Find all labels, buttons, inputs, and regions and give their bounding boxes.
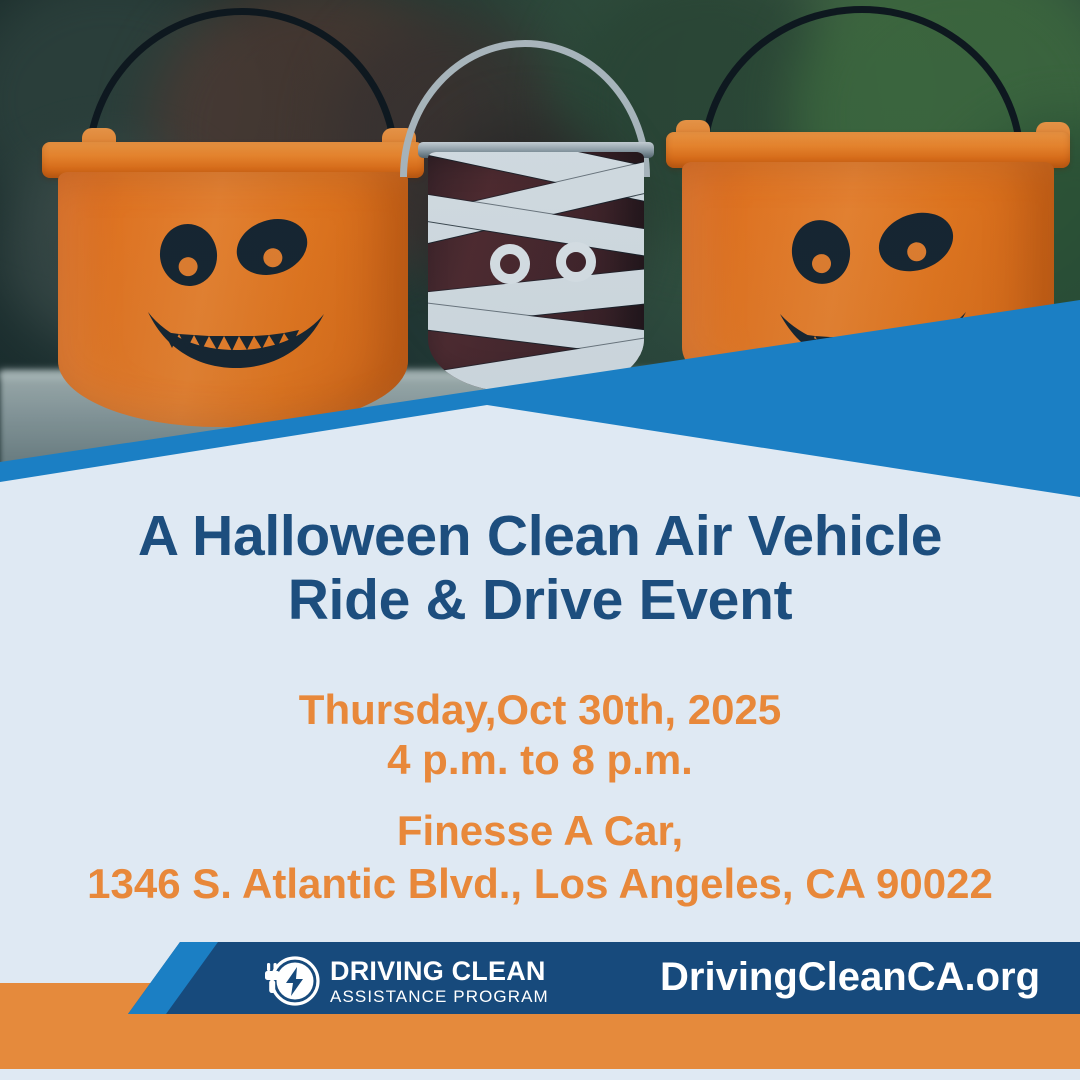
event-venue: Finesse A Car, 1346 S. Atlantic Blvd., L… [0, 805, 1080, 910]
mummy-eye-icon [556, 242, 596, 282]
venue-address: 1346 S. Atlantic Blvd., Los Angeles, CA … [0, 858, 1080, 911]
logo-line-2: ASSISTANCE PROGRAM [330, 988, 549, 1005]
website-url[interactable]: DrivingCleanCA.org [660, 955, 1040, 1000]
event-date-time: Thursday,Oct 30th, 2025 4 p.m. to 8 p.m. [0, 685, 1080, 786]
mummy-eye-icon [490, 244, 530, 284]
logo-wordmark: DRIVING CLEAN ASSISTANCE PROGRAM [330, 958, 549, 1005]
jack-o-lantern-eye-icon [156, 220, 221, 289]
bucket-body-left [58, 172, 408, 427]
event-title-line-2: Ride & Drive Event [0, 569, 1080, 633]
logo-line-1: DRIVING CLEAN [330, 958, 549, 985]
event-date: Thursday,Oct 30th, 2025 [0, 685, 1080, 735]
bottom-light-strip [0, 1069, 1080, 1080]
venue-name: Finesse A Car, [0, 805, 1080, 858]
jack-o-lantern-mouth-icon [146, 310, 326, 372]
jack-o-lantern-eye-icon [787, 215, 855, 288]
jack-o-lantern-eye-icon [229, 210, 314, 284]
event-title: A Halloween Clean Air Vehicle Ride & Dri… [0, 505, 1080, 633]
mummy-bucket-body [428, 152, 644, 392]
jack-o-lantern-eye-icon [871, 203, 961, 281]
halloween-event-poster: A Halloween Clean Air Vehicle Ride & Dri… [0, 0, 1080, 1080]
driving-clean-logo[interactable]: DRIVING CLEAN ASSISTANCE PROGRAM [258, 950, 549, 1012]
event-title-line-1: A Halloween Clean Air Vehicle [0, 505, 1080, 569]
plug-bolt-logo-icon [258, 950, 320, 1012]
event-time: 4 p.m. to 8 p.m. [0, 735, 1080, 785]
